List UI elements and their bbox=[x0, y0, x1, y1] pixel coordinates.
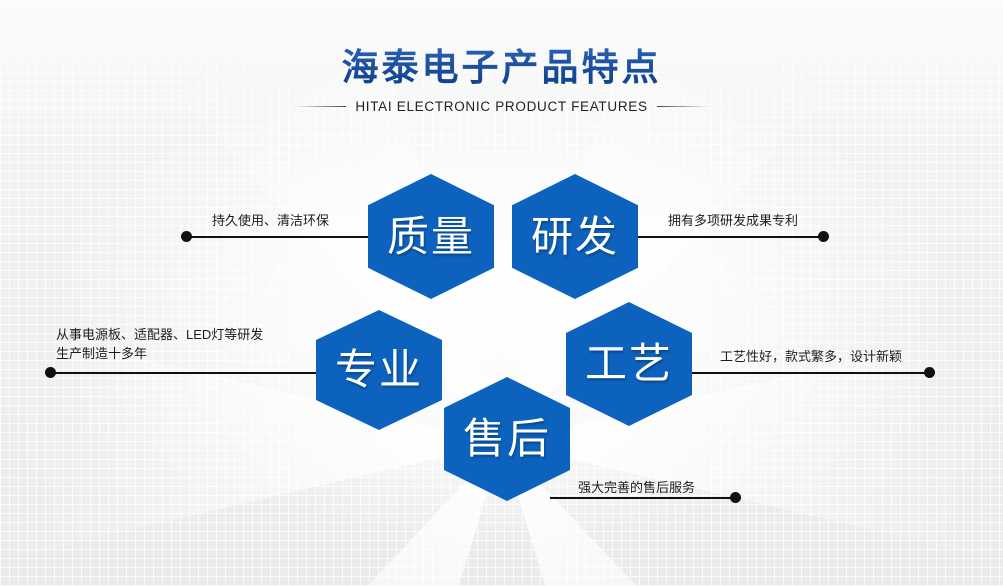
page-heading: 海泰电子产品特点 HITAI ELECTRONIC PRODUCT FEATUR… bbox=[0, 44, 1003, 114]
caption-aftersales: 强大完善的售后服务 bbox=[578, 478, 695, 497]
hexagon-label-quality: 质量 bbox=[387, 216, 475, 258]
page-subtitle: HITAI ELECTRONIC PRODUCT FEATURES bbox=[355, 99, 647, 114]
page-title: 海泰电子产品特点 bbox=[0, 44, 1003, 90]
connector-line-professional bbox=[54, 372, 334, 374]
caption-quality: 持久使用、清洁环保 bbox=[212, 211, 329, 230]
connector-line-quality bbox=[190, 236, 385, 238]
subtitle-dash-left bbox=[294, 106, 346, 107]
connector-dot-professional bbox=[45, 367, 56, 378]
caption-craft: 工艺性好，款式繁多，设计新颖 bbox=[720, 347, 902, 366]
connector-dot-aftersales bbox=[730, 492, 741, 503]
hexagon-label-craft: 工艺 bbox=[585, 343, 673, 385]
connector-dot-rnd bbox=[818, 231, 829, 242]
subtitle-dash-right bbox=[657, 106, 709, 107]
connector-dot-quality bbox=[181, 231, 192, 242]
connector-dot-craft bbox=[924, 367, 935, 378]
caption-professional: 从事电源板、适配器、LED灯等研发 生产制造十多年 bbox=[56, 325, 306, 363]
caption-professional-line2: 生产制造十多年 bbox=[56, 344, 306, 363]
connector-line-aftersales bbox=[550, 497, 738, 499]
connector-line-craft bbox=[676, 372, 930, 374]
subtitle-row: HITAI ELECTRONIC PRODUCT FEATURES bbox=[0, 99, 1003, 114]
hexagon-label-rnd: 研发 bbox=[531, 216, 619, 258]
hexagon-label-professional: 专业 bbox=[335, 349, 423, 391]
hexagon-label-aftersales: 售后 bbox=[463, 418, 551, 460]
connector-line-rnd bbox=[620, 236, 824, 238]
feature-infographic: 海泰电子产品特点 HITAI ELECTRONIC PRODUCT FEATUR… bbox=[0, 0, 1003, 586]
caption-rnd: 拥有多项研发成果专利 bbox=[668, 211, 798, 230]
caption-professional-line1: 从事电源板、适配器、LED灯等研发 bbox=[56, 325, 306, 344]
